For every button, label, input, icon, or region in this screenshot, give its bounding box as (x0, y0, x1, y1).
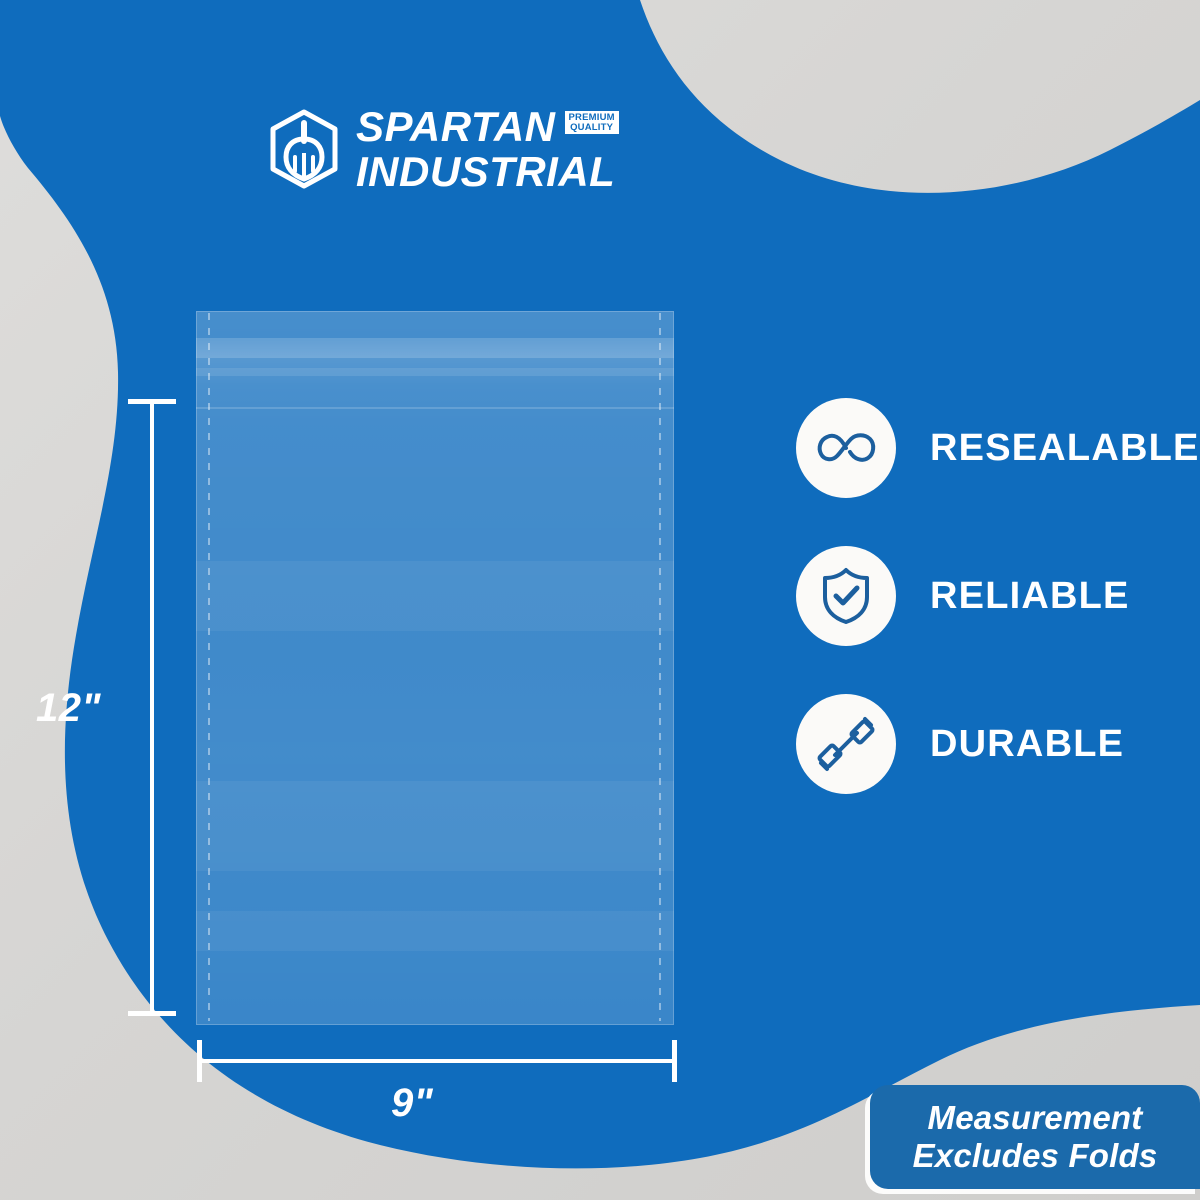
feature-label-resealable: RESEALABLE (930, 427, 1200, 470)
product-bag-image (196, 311, 674, 1025)
shield-check-icon (796, 546, 896, 646)
premium-quality-badge: PREMIUM QUALITY (565, 111, 619, 134)
bag-sheen-mid (196, 781, 674, 871)
brand-logo: SPARTAN PREMIUM QUALITY INDUSTRIAL (268, 106, 619, 192)
measurement-note-box: Measurement Excludes Folds (870, 1085, 1200, 1189)
note-line-1: Measurement (928, 1099, 1143, 1137)
brand-line-1: SPARTAN (356, 106, 556, 147)
feature-label-durable: DURABLE (930, 723, 1124, 766)
bag-sheen-upper (196, 561, 674, 631)
width-dimension-cap-right (672, 1040, 677, 1082)
feature-item-durable: DURABLE (796, 694, 1200, 794)
feature-label-reliable: RELIABLE (930, 575, 1130, 618)
bag-sheen-lower (196, 911, 674, 951)
height-dimension-label: 12" (36, 686, 101, 731)
spartan-helmet-hexagon-icon (268, 109, 340, 189)
height-dimension-line (150, 400, 154, 1014)
height-dimension-cap-bottom (128, 1011, 176, 1016)
bag-zip-seal (196, 338, 674, 358)
product-infographic: SPARTAN PREMIUM QUALITY INDUSTRIAL 12" 9… (0, 0, 1200, 1200)
brand-wordmark: SPARTAN PREMIUM QUALITY INDUSTRIAL (356, 106, 619, 192)
dumbbell-icon (796, 694, 896, 794)
badge-line-2: QUALITY (570, 122, 613, 133)
brand-line-2: INDUSTRIAL (356, 151, 619, 192)
feature-item-resealable: RESEALABLE (796, 398, 1200, 498)
feature-list: RESEALABLE RELIABLE (796, 398, 1200, 794)
note-line-2: Excludes Folds (913, 1137, 1158, 1175)
bag-seal-line (196, 407, 674, 409)
infinity-icon (796, 398, 896, 498)
width-dimension-label: 9" (391, 1081, 433, 1126)
width-dimension-line (198, 1059, 676, 1063)
bag-zip-seal-secondary (196, 368, 674, 376)
feature-item-reliable: RELIABLE (796, 546, 1200, 646)
